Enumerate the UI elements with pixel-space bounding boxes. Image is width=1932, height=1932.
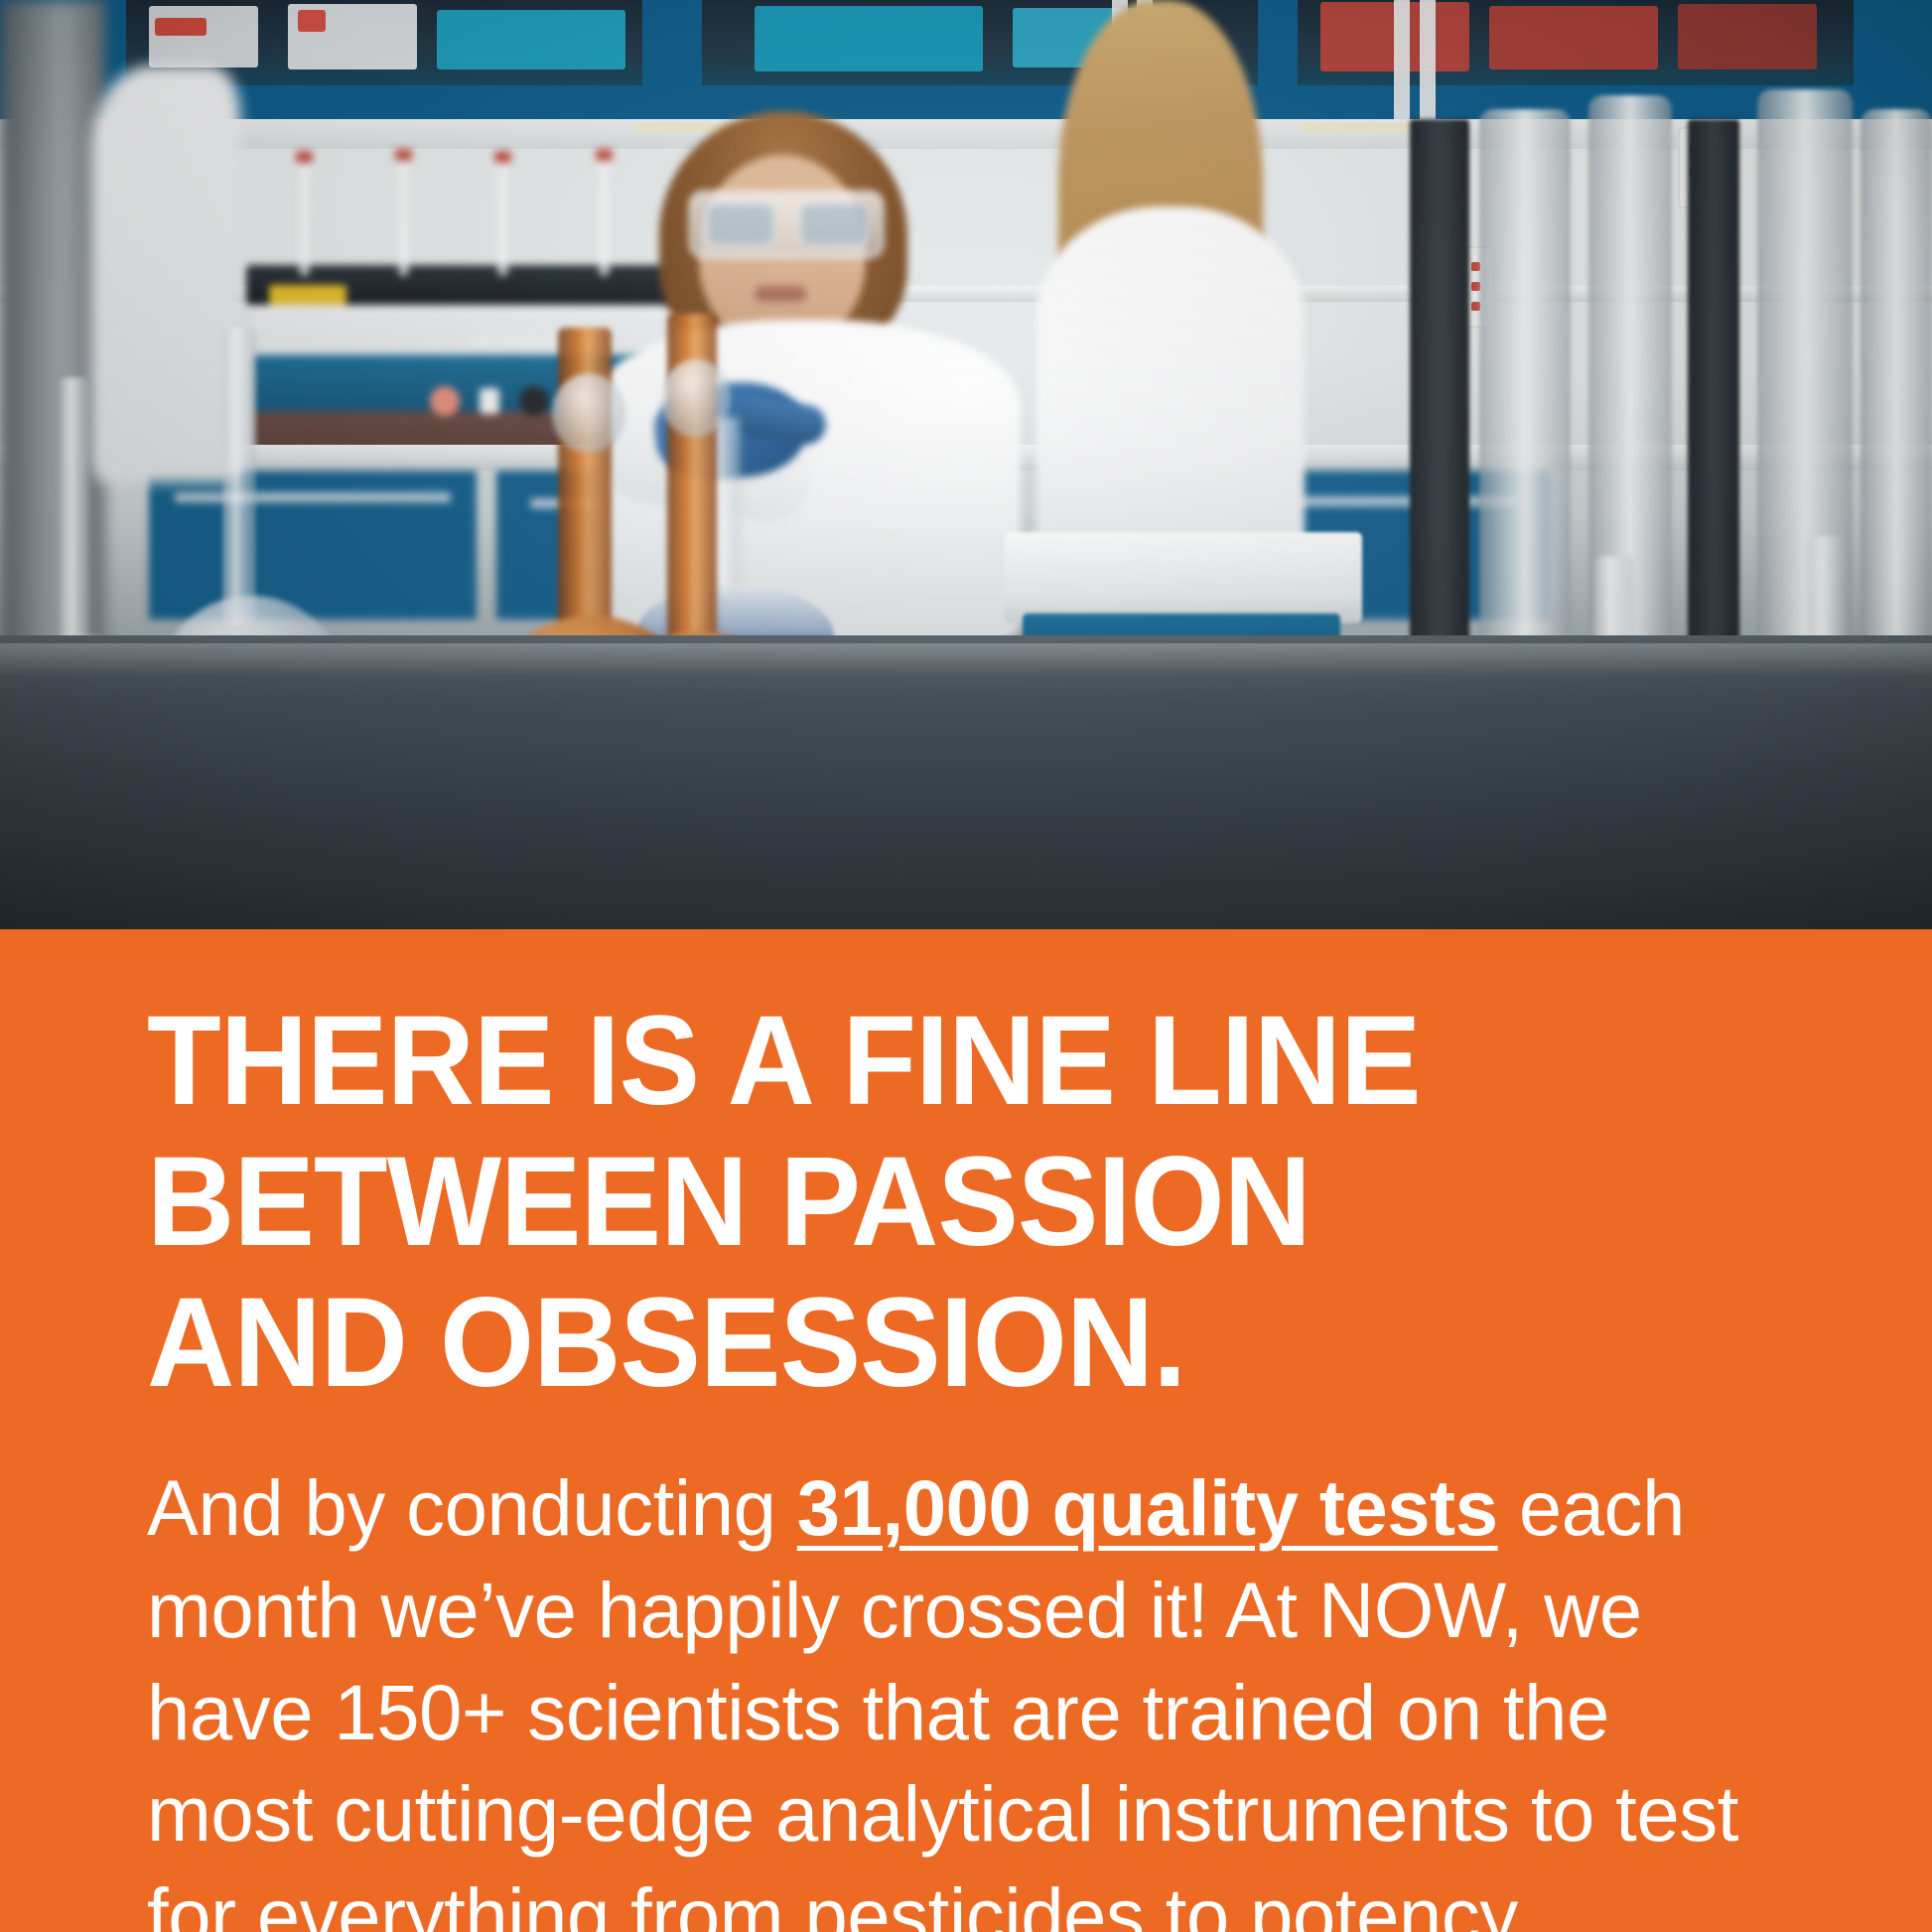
room-pillar (0, 0, 105, 735)
bench-cabinet-left (149, 471, 477, 620)
lab-photo: 500 (0, 0, 1932, 929)
body-lead: And by conducting (147, 1463, 797, 1552)
analytical-balance (1005, 532, 1362, 623)
scientist-center-mouth (755, 286, 806, 302)
panel-content: THERE IS A FINE LINE BETWEEN PASSION AND… (147, 929, 1813, 1932)
countertop-sheen (0, 643, 1932, 677)
quality-tests-highlight: 31,000 quality tests (797, 1463, 1498, 1552)
page-title: THERE IS A FINE LINE BETWEEN PASSION AND… (147, 929, 1737, 1414)
body-copy: And by conducting 31,000 quality tests e… (147, 1414, 1760, 1932)
lab-countertop (0, 635, 1932, 929)
scientist-left-coat (91, 66, 240, 483)
orange-message-panel: THERE IS A FINE LINE BETWEEN PASSION AND… (0, 929, 1932, 1932)
marketing-poster: 500 THERE IS A FINE LINE BETWEEN PASSION… (0, 0, 1932, 1932)
safety-goggles (689, 191, 884, 258)
